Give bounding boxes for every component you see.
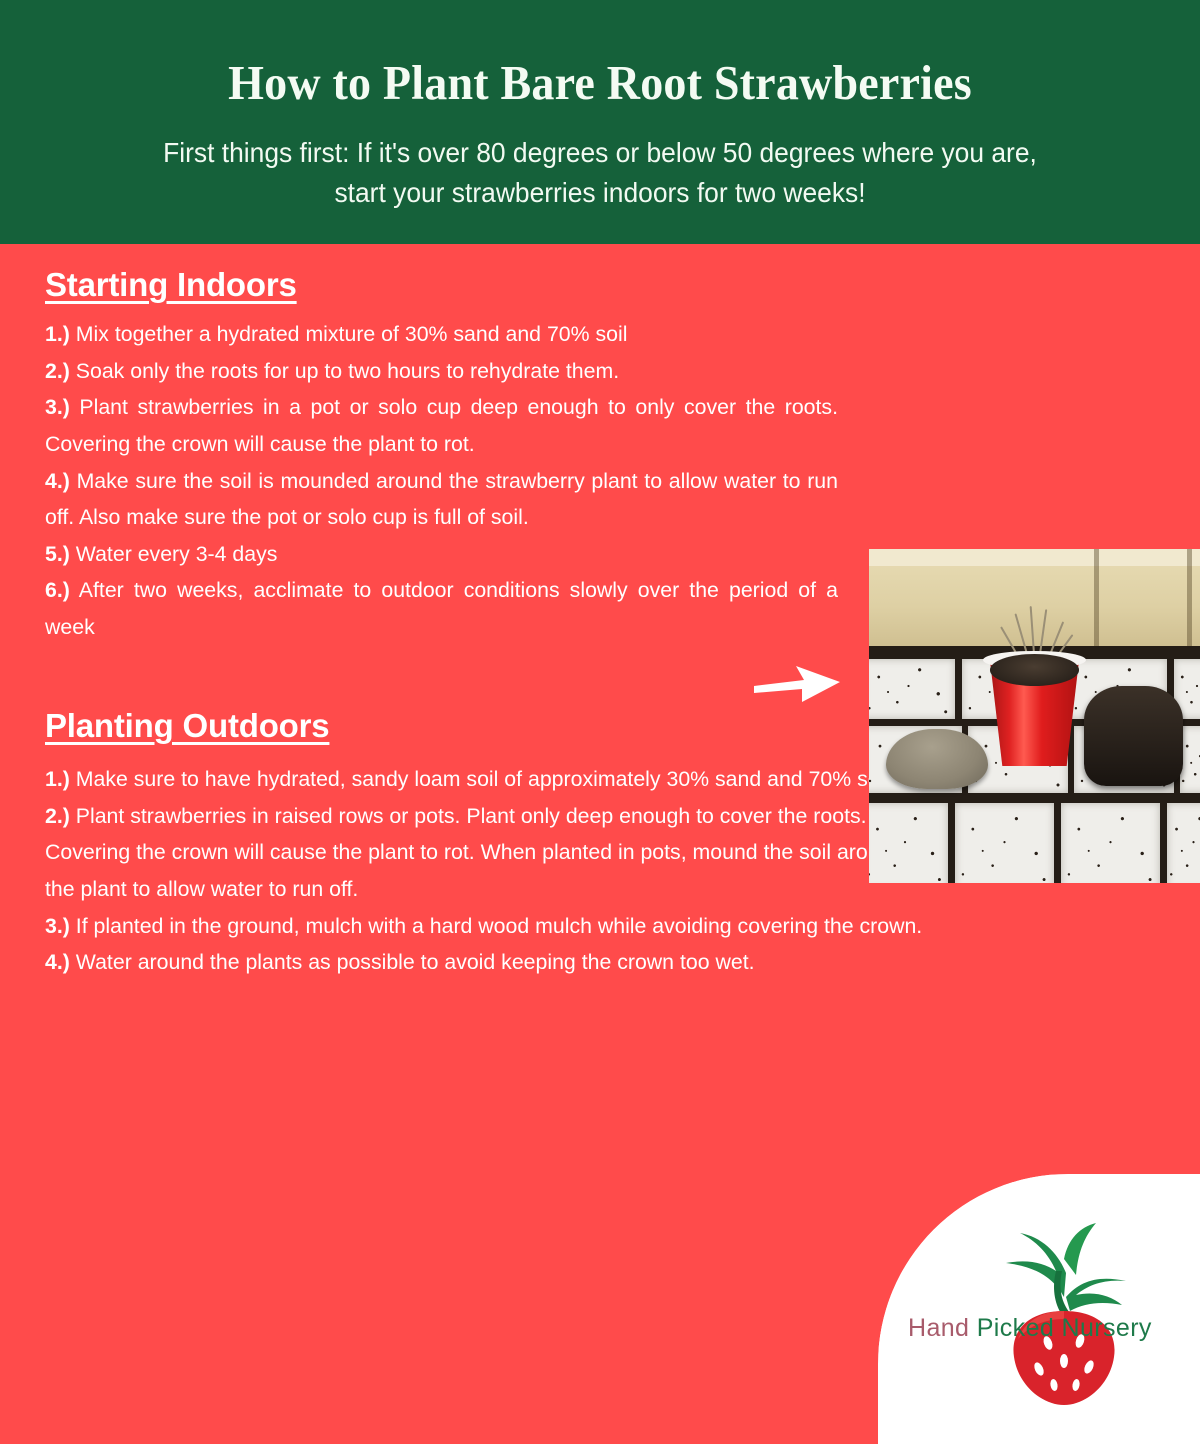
photo-strawberry-in-red-solo-cup xyxy=(869,549,1200,883)
tile xyxy=(955,803,1054,883)
section-heading-starting-indoors: Starting Indoors xyxy=(45,266,297,304)
arrow-right-icon xyxy=(752,662,842,704)
tile xyxy=(1180,726,1200,793)
step-text: If planted in the ground, mulch with a h… xyxy=(76,914,922,938)
content-area: Starting Indoors 1.) Mix together a hydr… xyxy=(0,244,1200,1200)
step-text: After two weeks, acclimate to outdoor co… xyxy=(45,578,838,639)
tile xyxy=(1167,803,1200,883)
tile xyxy=(1061,803,1160,883)
page-title: How to Plant Bare Root Strawberries xyxy=(36,0,1164,108)
list-item: 1.) Mix together a hydrated mixture of 3… xyxy=(45,316,838,353)
cup-soil xyxy=(990,654,1079,686)
list-item: 3.) Plant strawberries in a pot or solo … xyxy=(45,389,838,462)
list-item: 4.) Make sure the soil is mounded around… xyxy=(45,463,838,536)
tile xyxy=(869,659,955,719)
outdoor-steps-list: 1.) Make sure to have hydrated, sandy lo… xyxy=(45,761,935,981)
logo-wordmark: Hand Picked Nursery xyxy=(908,1314,1200,1343)
indoor-steps-list: 1.) Mix together a hydrated mixture of 3… xyxy=(45,316,838,646)
list-item: 2.) Soak only the roots for up to two ho… xyxy=(45,353,838,390)
step-text: Soak only the roots for up to two hours … xyxy=(76,359,619,383)
list-item: 2.) Plant strawberries in raised rows or… xyxy=(45,798,935,908)
wall-seam xyxy=(1187,549,1192,653)
header-subtitle: First things first: If it's over 80 degr… xyxy=(139,108,1061,213)
list-item: 1.) Make sure to have hydrated, sandy lo… xyxy=(45,761,935,798)
tile xyxy=(869,803,948,883)
logo-badge: Hand Picked Nursery xyxy=(878,1174,1200,1444)
logo-word-hand: Hand xyxy=(908,1314,969,1342)
step-text: Make sure to have hydrated, sandy loam s… xyxy=(76,767,895,791)
soil-mound xyxy=(1084,686,1183,786)
logo-word-picked-nursery: Picked Nursery xyxy=(977,1314,1152,1342)
step-number: 5.) xyxy=(45,542,70,566)
wall-cap xyxy=(869,549,1200,566)
step-number: 2.) xyxy=(45,804,70,828)
list-item: 6.) After two weeks, acclimate to outdoo… xyxy=(45,572,838,645)
step-number: 1.) xyxy=(45,767,70,791)
header-banner: How to Plant Bare Root Strawberries Firs… xyxy=(0,0,1200,244)
step-text: Water every 3-4 days xyxy=(76,542,278,566)
step-number: 3.) xyxy=(45,395,70,419)
step-number: 2.) xyxy=(45,359,70,383)
list-item: 3.) If planted in the ground, mulch with… xyxy=(45,908,935,945)
list-item: 5.) Water every 3-4 days xyxy=(45,536,838,573)
sand-mound xyxy=(886,729,989,789)
step-text: Mix together a hydrated mixture of 30% s… xyxy=(76,322,628,346)
step-number: 6.) xyxy=(45,578,70,602)
section-heading-planting-outdoors: Planting Outdoors xyxy=(45,707,329,745)
wall-seam xyxy=(1094,549,1099,653)
step-text: Make sure the soil is mounded around the… xyxy=(45,469,838,530)
list-item: 4.) Water around the plants as possible … xyxy=(45,944,935,981)
step-number: 1.) xyxy=(45,322,70,346)
step-text: Plant strawberries in a pot or solo cup … xyxy=(45,395,838,456)
step-text: Water around the plants as possible to a… xyxy=(76,950,755,974)
photo-content xyxy=(869,549,1200,883)
step-number: 4.) xyxy=(45,469,70,493)
step-text: Plant strawberries in raised rows or pot… xyxy=(45,804,903,901)
step-number: 4.) xyxy=(45,950,70,974)
step-number: 3.) xyxy=(45,914,70,938)
